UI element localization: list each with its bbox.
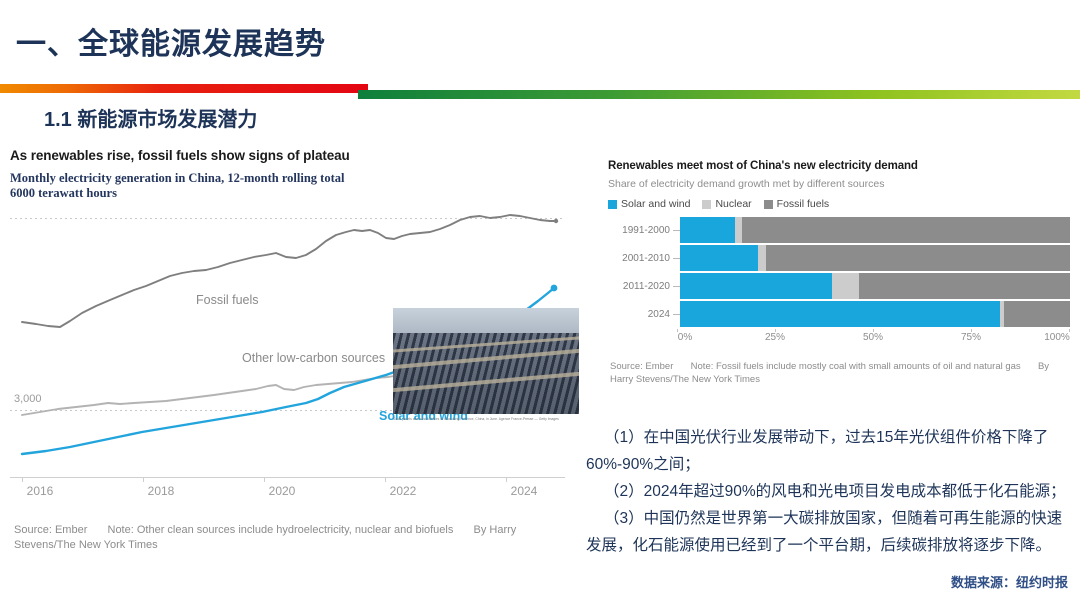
x-label-2022: 2022 [390, 484, 417, 498]
x-label-2024: 2024 [511, 484, 538, 498]
right-bar-chart: Renewables meet most of China's new elec… [608, 160, 1070, 390]
right-chart-note: Note: Fossil fuels include mostly coal w… [691, 361, 1021, 372]
bar-label-2001-2010: 2001-2010 [608, 253, 673, 264]
bar-x-label-0: 0% [678, 332, 692, 343]
bar-row-2011-2020[interactable]: 2011-2020 [608, 273, 1070, 299]
series-label-other-low-carbon: Other low-carbon sources [242, 351, 385, 365]
legend-label-solar-and-wind: Solar and wind [621, 198, 690, 210]
divider-bar-green [358, 90, 1080, 99]
bar-label-2011-2020: 2011-2020 [608, 281, 673, 292]
bar-segment-solar-1991-2000 [680, 217, 735, 243]
left-chart-plot: 3,000 Fossil fuels Other low-carbon sour… [10, 205, 565, 480]
bar-x-label-25: 25% [765, 332, 785, 343]
bar-track-2024 [680, 301, 1070, 327]
note-item-2: （2）2024年超过90%的风电和光电项目发电成本都低于化石能源； [586, 478, 1068, 505]
divider-bar-red [0, 84, 368, 93]
legend-swatch-fossil-fuels [764, 200, 773, 209]
note-item-3: （3）中国仍然是世界第一大碳排放国家，但随着可再生能源的快速发展，化石能源使用已… [586, 505, 1068, 559]
bar-tick-2024 [673, 314, 680, 315]
bar-segment-solar-2011-2020 [680, 273, 832, 299]
legend-label-nuclear: Nuclear [715, 198, 751, 210]
bar-x-label-100: 100% [1044, 332, 1070, 343]
x-tick-2018 [143, 478, 144, 482]
right-chart-source: Source: Ember [610, 361, 673, 372]
x-label-2018: 2018 [148, 484, 175, 498]
data-source-attribution: 数据来源：纽约时报 [586, 572, 1080, 591]
bar-segment-nuclear-1991-2000 [735, 217, 743, 243]
legend-swatch-solar-and-wind [608, 200, 617, 209]
photo-sky [393, 308, 579, 336]
page-title: 一、全球能源发展趋势 [16, 19, 326, 63]
stacked-bars: 1991-2000 2001-2010 2011-2020 [608, 217, 1070, 345]
x-label-2020: 2020 [269, 484, 296, 498]
note-item-1: （1）在中国光伏行业发展带动下，过去15年光伏组件价格下降了60%-90%之间； [586, 424, 1068, 478]
right-chart-x-axis: 0% 25% 50% 75% 100% [677, 329, 1070, 345]
right-chart-footnote: Source: Ember Note: Fossil fuels include… [610, 360, 1068, 386]
bar-row-2024[interactable]: 2024 [608, 301, 1070, 327]
legend-item-nuclear[interactable]: Nuclear [702, 198, 751, 210]
bar-tick-2001-2010 [673, 258, 680, 259]
right-chart-subhead: Share of electricity demand growth met b… [608, 178, 1070, 190]
legend-swatch-nuclear [702, 200, 711, 209]
left-line-chart: As renewables rise, fossil fuels show si… [10, 148, 570, 563]
x-tick-2016 [22, 478, 23, 482]
fossil-endpoint-marker [554, 219, 558, 223]
bar-row-2001-2010[interactable]: 2001-2010 [608, 245, 1070, 271]
x-tick-2024 [506, 478, 507, 482]
bar-track-2001-2010 [680, 245, 1070, 271]
legend-label-fossil-fuels: Fossil fuels [777, 198, 830, 210]
bar-x-label-50: 50% [863, 332, 883, 343]
bar-track-1991-2000 [680, 217, 1070, 243]
series-label-fossil-fuels: Fossil fuels [196, 293, 259, 307]
bar-segment-fossil-2024 [1004, 301, 1070, 327]
summary-notes: （1）在中国光伏行业发展带动下，过去15年光伏组件价格下降了60%-90%之间；… [586, 424, 1068, 559]
slide-root: 一、全球能源发展趋势 1.1 新能源市场发展潜力 As renewables r… [0, 0, 1080, 608]
left-chart-footnote: Source: Ember Note: Other clean sources … [14, 523, 562, 553]
bar-tick-2011-2020 [673, 286, 680, 287]
x-tick-2020 [264, 478, 265, 482]
bar-label-1991-2000: 1991-2000 [608, 225, 673, 236]
left-chart-subhead-line2: 6000 terawatt hours [10, 186, 570, 201]
left-chart-subhead-line1: Monthly electricity generation in China,… [10, 171, 570, 186]
bar-segment-solar-2001-2010 [680, 245, 758, 271]
photo-caption: Solar panels and wind turbines in Shando… [393, 417, 579, 422]
bar-segment-fossil-2001-2010 [766, 245, 1070, 271]
section-subtitle: 1.1 新能源市场发展潜力 [44, 103, 257, 132]
left-chart-x-axis [10, 477, 565, 478]
legend-item-fossil-fuels[interactable]: Fossil fuels [764, 198, 830, 210]
bar-segment-fossil-1991-2000 [742, 217, 1070, 243]
bar-x-label-75: 75% [961, 332, 981, 343]
bar-segment-solar-2024 [680, 301, 1000, 327]
left-chart-note: Note: Other clean sources include hydroe… [108, 524, 454, 536]
left-chart-source: Source: Ember [14, 524, 87, 536]
bar-label-2024: 2024 [608, 309, 673, 320]
right-chart-legend: Solar and wind Nuclear Fossil fuels [608, 198, 1070, 210]
left-chart-subhead: Monthly electricity generation in China,… [10, 171, 570, 200]
solar-endpoint-marker [551, 285, 558, 292]
bar-row-1991-2000[interactable]: 1991-2000 [608, 217, 1070, 243]
bar-tick-1991-2000 [673, 230, 680, 231]
legend-item-solar-and-wind[interactable]: Solar and wind [608, 198, 690, 210]
right-chart-headline: Renewables meet most of China's new elec… [608, 160, 1070, 172]
bar-segment-fossil-2011-2020 [859, 273, 1070, 299]
bar-segment-nuclear-2011-2020 [832, 273, 859, 299]
bar-track-2011-2020 [680, 273, 1070, 299]
solar-farm-photo [393, 308, 579, 414]
bar-segment-nuclear-2001-2010 [758, 245, 766, 271]
left-chart-headline: As renewables rise, fossil fuels show si… [10, 148, 570, 163]
x-label-2016: 2016 [27, 484, 54, 498]
x-tick-2022 [385, 478, 386, 482]
